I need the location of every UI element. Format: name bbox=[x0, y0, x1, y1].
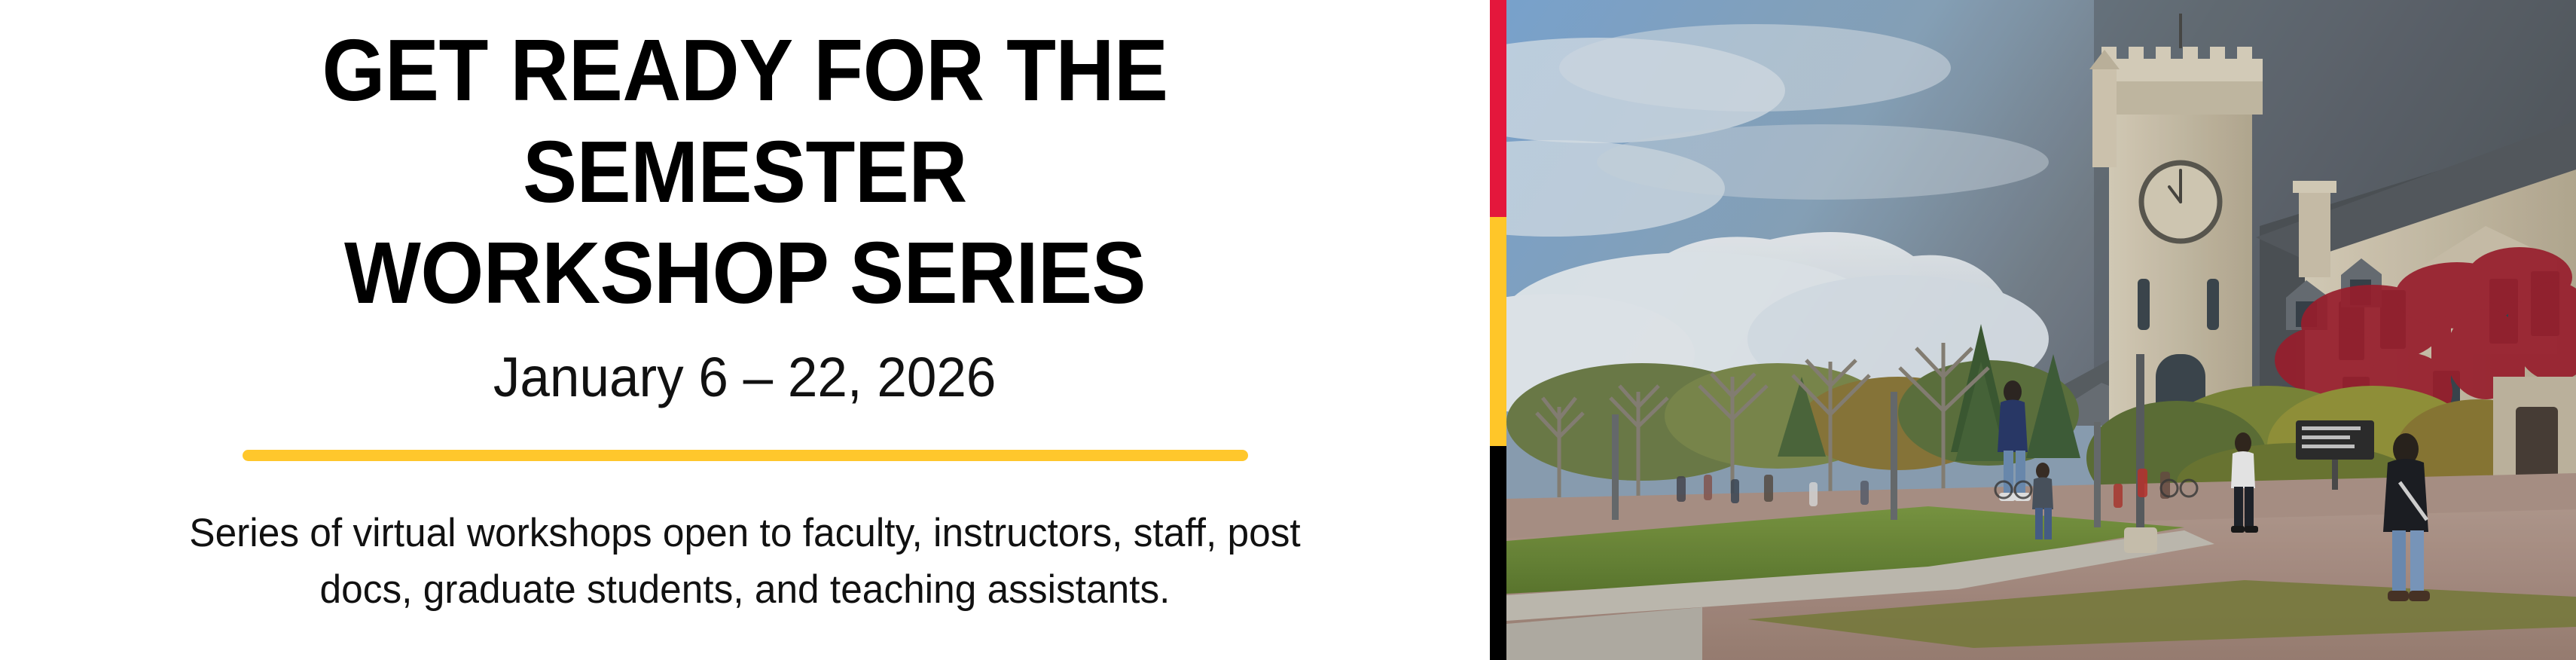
text-panel: GET READY FOR THE SEMESTER WORKSHOP SERI… bbox=[0, 0, 1490, 660]
campus-photo-illustration bbox=[1506, 0, 2576, 660]
page-title: GET READY FOR THE SEMESTER WORKSHOP SERI… bbox=[114, 20, 1375, 324]
campus-photo bbox=[1506, 0, 2576, 660]
promo-banner: GET READY FOR THE SEMESTER WORKSHOP SERI… bbox=[0, 0, 2576, 660]
stripe-black-segment bbox=[1490, 446, 1506, 660]
divider-wrapper bbox=[67, 450, 1423, 461]
date-range: January 6 – 22, 2026 bbox=[493, 347, 997, 408]
stripe-red-segment bbox=[1490, 0, 1506, 217]
photo-vignette bbox=[1506, 0, 2576, 660]
yellow-divider-bar bbox=[243, 450, 1248, 461]
stripe-yellow-segment bbox=[1490, 217, 1506, 446]
accent-stripe bbox=[1490, 0, 1506, 660]
description-text: Series of virtual workshops open to facu… bbox=[175, 505, 1314, 619]
